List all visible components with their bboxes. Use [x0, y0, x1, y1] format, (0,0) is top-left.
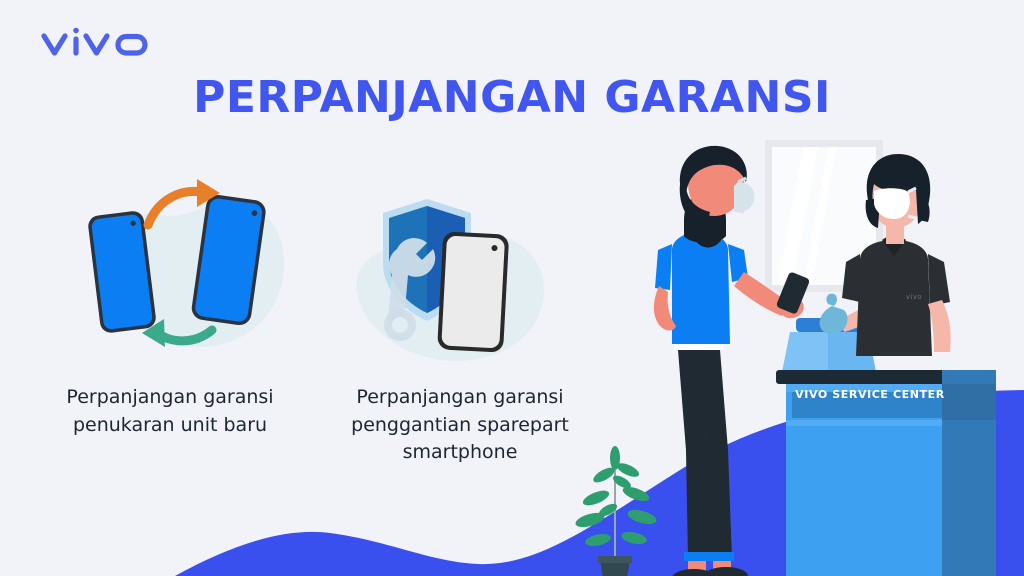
poster-canvas: PERPANJANGAN GARANSI [0, 0, 1024, 576]
potted-plant [574, 446, 658, 576]
vivo-service-center-scene [560, 120, 1024, 576]
two-phones-swap-illustration [60, 175, 310, 365]
vivo-logo [40, 20, 150, 64]
page-title: PERPANJANGAN GARANSI [0, 72, 1024, 123]
feature-caption-sparepart: Perpanjangan garansi penggantian sparepa… [320, 384, 600, 467]
feature-caption-exchange: Perpanjangan garansi penukaran unit baru [35, 384, 305, 439]
shield-wrench-phone-illustration [345, 185, 575, 370]
uniform-vivo-logo: vivo [906, 293, 922, 301]
service-counter [776, 370, 996, 576]
gloved-hand-icon [820, 294, 848, 334]
